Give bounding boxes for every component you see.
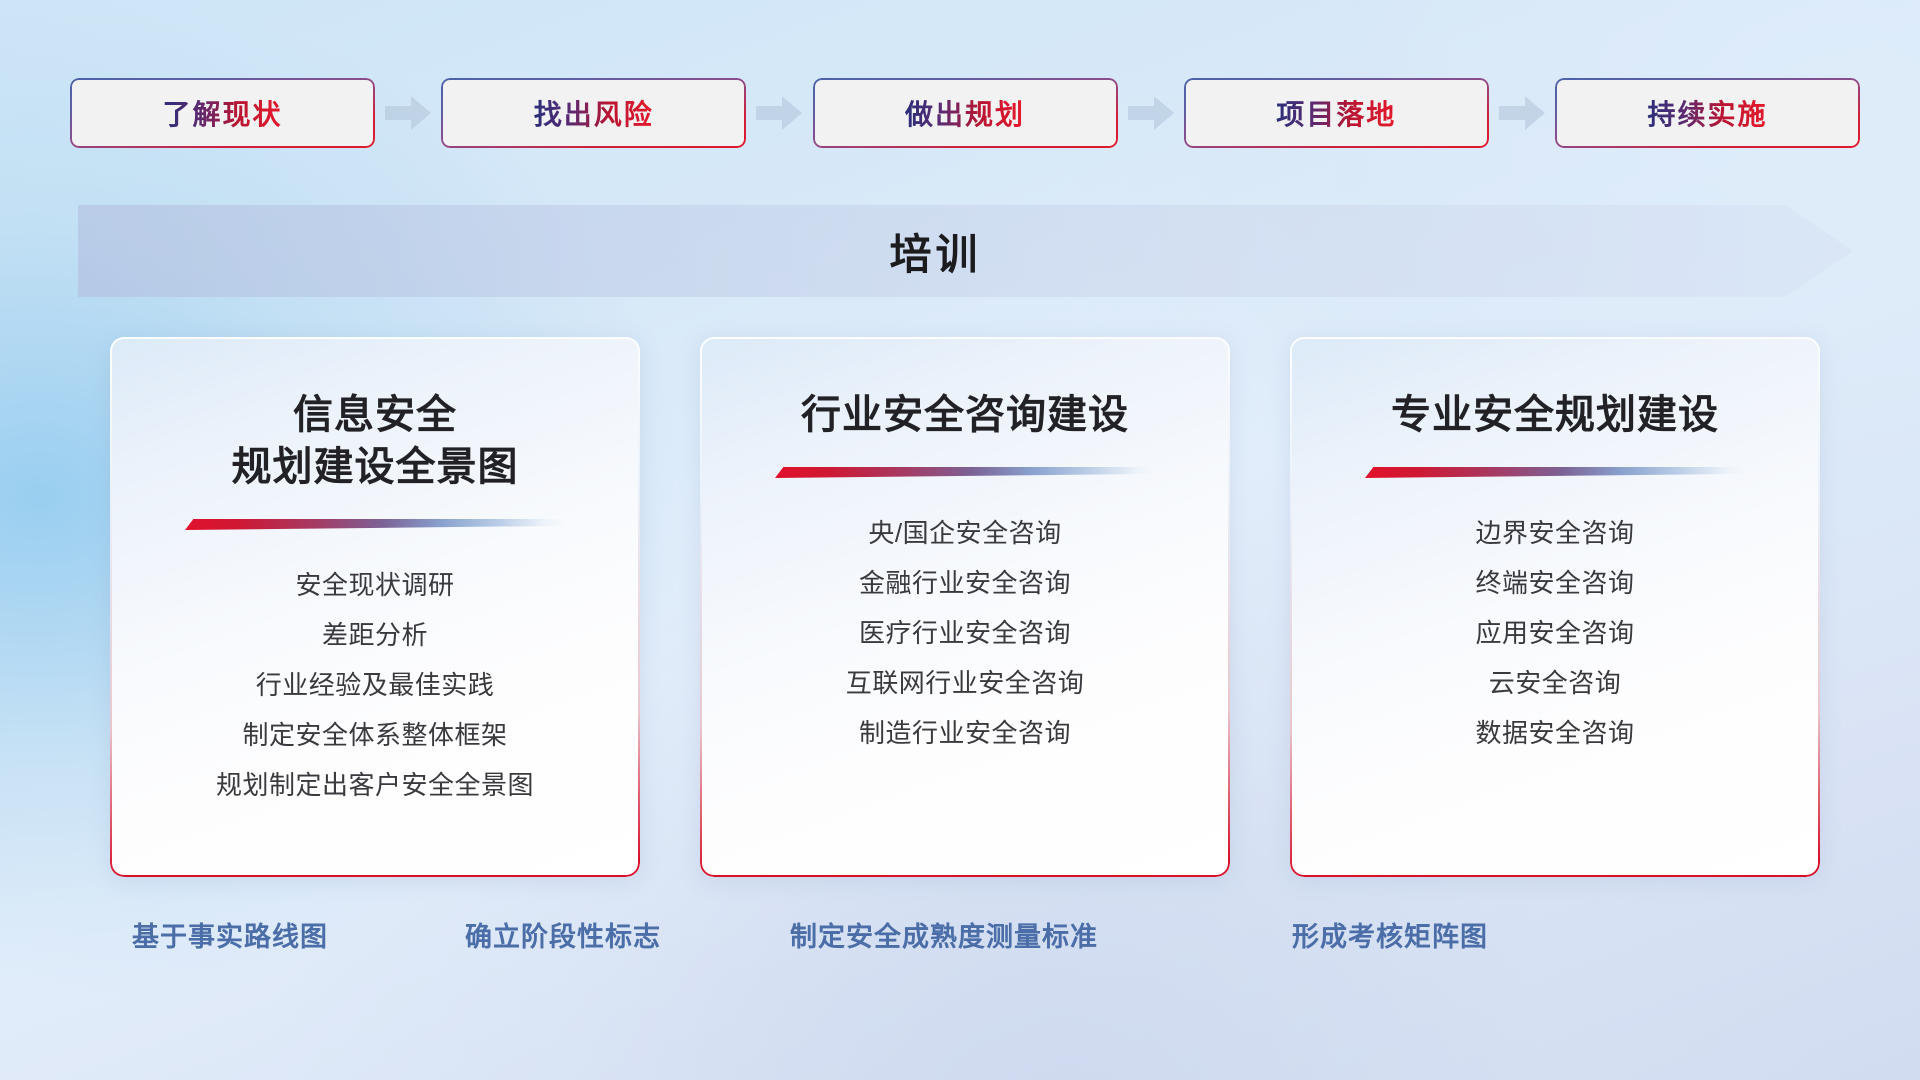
list-item: 金融行业安全咨询	[859, 558, 1071, 608]
footer-label-2: 制定安全成熟度测量标准	[790, 915, 1098, 954]
list-item: 差距分析	[322, 610, 428, 660]
service-card-0[interactable]: 信息安全 规划建设全景图 安全现状调研 差距分析 行业经验及最佳实践 制定安全体…	[110, 337, 640, 877]
training-title: 培训	[78, 205, 1853, 297]
service-card-group: 信息安全 规划建设全景图 安全现状调研 差距分析 行业经验及最佳实践 制定安全体…	[110, 337, 1820, 877]
step-box-1[interactable]: 找出风险	[441, 78, 746, 148]
step-arrow-icon-3	[1499, 96, 1545, 130]
list-item: 云安全咨询	[1489, 658, 1622, 708]
footer-label-0: 基于事实路线图	[132, 915, 328, 954]
card-title-0: 信息安全 规划建设全景图	[232, 389, 519, 493]
step-label-4: 持续实施	[1647, 93, 1767, 133]
card-divider-1	[775, 467, 1155, 478]
step-box-3[interactable]: 项目落地	[1184, 78, 1489, 148]
step-wrap-4: 持续实施	[1555, 78, 1860, 148]
step-wrap-2: 做出规划	[813, 78, 1118, 148]
card-list-0: 安全现状调研 差距分析 行业经验及最佳实践 制定安全体系整体框架 规划制定出客户…	[216, 560, 534, 810]
step-box-4[interactable]: 持续实施	[1555, 78, 1860, 148]
card-title-0-line1: 信息安全	[232, 389, 519, 441]
step-wrap-1: 找出风险	[441, 78, 746, 148]
list-item: 规划制定出客户安全全景图	[216, 760, 534, 810]
step-arrow-icon-2	[1128, 96, 1174, 130]
step-arrow-icon-1	[756, 96, 802, 130]
card-list-2: 边界安全咨询 终端安全咨询 应用安全咨询 云安全咨询 数据安全咨询	[1475, 508, 1634, 758]
footer-label-row: 基于事实路线图 确立阶段性标志 制定安全成熟度测量标准 形成考核矩阵图	[0, 915, 1920, 965]
training-banner: 培训	[78, 205, 1853, 297]
card-list-1: 央/国企安全咨询 金融行业安全咨询 医疗行业安全咨询 互联网行业安全咨询 制造行…	[846, 508, 1085, 758]
step-box-2[interactable]: 做出规划	[813, 78, 1118, 148]
list-item: 制造行业安全咨询	[859, 708, 1071, 758]
list-item: 央/国企安全咨询	[868, 508, 1061, 558]
process-step-row: 了解现状 找出风险 做出规划 项目落地	[70, 78, 1860, 148]
step-box-0[interactable]: 了解现状	[70, 78, 375, 148]
step-arrow-icon-0	[385, 96, 431, 130]
list-item: 数据安全咨询	[1475, 708, 1634, 758]
list-item: 互联网行业安全咨询	[846, 658, 1085, 708]
list-item: 行业经验及最佳实践	[256, 660, 495, 710]
footer-label-3: 形成考核矩阵图	[1292, 915, 1488, 954]
card-title-2: 专业安全规划建设	[1391, 389, 1719, 441]
service-card-2[interactable]: 专业安全规划建设 边界安全咨询 终端安全咨询 应用安全咨询 云安全咨询 数据安全…	[1290, 337, 1820, 877]
list-item: 边界安全咨询	[1475, 508, 1634, 558]
list-item: 终端安全咨询	[1475, 558, 1634, 608]
card-title-2-line1: 专业安全规划建设	[1391, 389, 1719, 441]
service-card-1[interactable]: 行业安全咨询建设 央/国企安全咨询 金融行业安全咨询 医疗行业安全咨询 互联网行…	[700, 337, 1230, 877]
footer-label-1: 确立阶段性标志	[465, 915, 661, 954]
card-title-1: 行业安全咨询建设	[801, 389, 1129, 441]
list-item: 应用安全咨询	[1475, 608, 1634, 658]
step-wrap-3: 项目落地	[1184, 78, 1489, 148]
step-label-0: 了解现状	[162, 93, 282, 133]
step-label-2: 做出规划	[905, 93, 1025, 133]
card-title-0-line2: 规划建设全景图	[232, 441, 519, 493]
card-divider-2	[1365, 467, 1745, 478]
step-wrap-0: 了解现状	[70, 78, 375, 148]
card-title-1-line1: 行业安全咨询建设	[801, 389, 1129, 441]
list-item: 医疗行业安全咨询	[859, 608, 1071, 658]
list-item: 安全现状调研	[295, 560, 454, 610]
step-label-3: 项目落地	[1276, 93, 1396, 133]
list-item: 制定安全体系整体框架	[242, 710, 507, 760]
card-divider-0	[185, 519, 565, 530]
step-label-1: 找出风险	[534, 93, 654, 133]
